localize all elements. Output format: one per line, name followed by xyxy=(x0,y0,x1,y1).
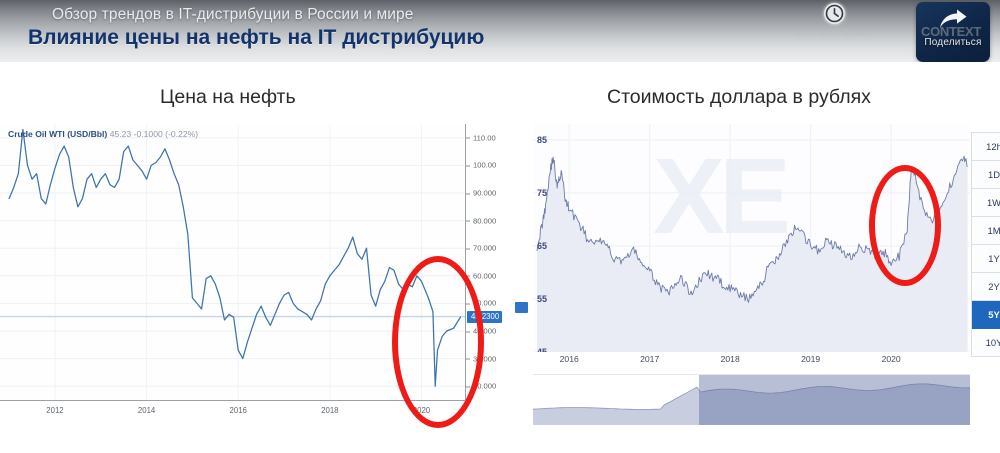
oil-y-tick: 100.00 xyxy=(466,161,496,170)
oil-x-tick: 2018 xyxy=(321,406,338,415)
oil-legend-change: -0.1000 xyxy=(134,129,163,139)
usdrub-chart[interactable]: XE 8575655545 20162017201820192020 12h1D… xyxy=(515,124,1000,430)
oil-x-tick: 2012 xyxy=(46,406,63,415)
oil-line-svg xyxy=(0,124,465,400)
usdrub-y-tick: 75 xyxy=(537,188,547,198)
oil-legend-name: Crude Oil WTI (USD/Bbl) xyxy=(8,129,107,139)
usdrub-x-tick: 2017 xyxy=(640,354,659,364)
chart-navigator[interactable] xyxy=(533,374,970,425)
oil-y-axis: 110.00100.0090.00080.00070.00060.00050.0… xyxy=(465,124,511,400)
navigator-selection-handle[interactable] xyxy=(699,375,970,425)
usdrub-y-tick: 65 xyxy=(537,241,547,251)
oil-y-tick: 40.000 xyxy=(466,327,496,336)
watch-later-label: Смотреть позже xyxy=(797,28,871,39)
usdrub-x-tick: 2020 xyxy=(882,354,901,364)
timeframe-button-1d[interactable]: 1D xyxy=(972,161,1000,189)
usdrub-area-svg xyxy=(533,124,970,352)
share-arrow-icon xyxy=(938,8,968,35)
oil-legend-price: 45.23 xyxy=(110,129,132,139)
oil-x-tick: 2020 xyxy=(413,406,430,415)
slide-canvas: Обзор трендов в IT-дистрибуции в России … xyxy=(0,0,1000,453)
oil-y-tick: 20.000 xyxy=(466,382,496,391)
usdrub-plot-area[interactable]: XE 8575655545 xyxy=(533,124,970,352)
timeframe-selector[interactable]: 12h1D1W1M1Y2Y5Y10Y xyxy=(971,132,1000,357)
oil-x-tick: 2016 xyxy=(230,406,247,415)
usdrub-x-tick: 2018 xyxy=(721,354,740,364)
timeframe-button-5y[interactable]: 5Y xyxy=(972,301,1000,329)
usdrub-y-tick: 85 xyxy=(537,135,547,145)
usdrub-x-tick: 2019 xyxy=(801,354,820,364)
oil-current-price-badge: 45.2300 xyxy=(467,311,502,323)
oil-y-tick: 70.000 xyxy=(466,244,496,253)
usdrub-x-tick: 2016 xyxy=(560,354,579,364)
oil-chart-legend: Crude Oil WTI (USD/Bbl) 45.23 -0.1000 (-… xyxy=(8,129,198,139)
page-title: Влияние цены на нефть на IT дистрибуцию xyxy=(28,26,484,50)
usdrub-x-axis: 20162017201820192020 xyxy=(533,352,970,370)
share-label: Поделиться xyxy=(924,37,981,48)
oil-y-tick: 110.00 xyxy=(466,133,496,142)
timeframe-button-1m[interactable]: 1M xyxy=(972,217,1000,245)
oil-plot-area[interactable]: Crude Oil WTI (USD/Bbl) 45.23 -0.1000 (-… xyxy=(0,124,465,400)
usdrub-current-badge xyxy=(515,302,528,313)
oil-y-tick: 30.000 xyxy=(466,354,496,363)
video-title: Обзор трендов в IT-дистрибуции в России … xyxy=(52,6,413,24)
timeframe-button-12h[interactable]: 12h xyxy=(972,133,1000,161)
oil-price-chart[interactable]: Crude Oil WTI (USD/Bbl) 45.23 -0.1000 (-… xyxy=(0,124,510,422)
usdrub-y-tick: 55 xyxy=(537,294,547,304)
timeframe-button-10y[interactable]: 10Y xyxy=(972,329,1000,357)
watch-later-button[interactable]: Смотреть позже xyxy=(786,3,882,47)
share-button[interactable]: Поделиться xyxy=(916,2,990,62)
oil-legend-change-pct: (-0.22%) xyxy=(165,129,198,139)
clock-icon xyxy=(824,3,845,24)
timeframe-button-1w[interactable]: 1W xyxy=(972,189,1000,217)
timeframe-button-1y[interactable]: 1Y xyxy=(972,245,1000,273)
oil-y-tick: 80.000 xyxy=(466,216,496,225)
oil-x-axis: 20122014201620182020 xyxy=(0,400,465,423)
oil-y-tick: 90.000 xyxy=(466,189,496,198)
left-chart-heading: Цена на нефть xyxy=(160,86,296,109)
oil-y-tick: 60.000 xyxy=(466,271,496,280)
oil-y-tick: 50.000 xyxy=(466,299,496,308)
timeframe-button-2y[interactable]: 2Y xyxy=(972,273,1000,301)
right-chart-heading: Стоимость доллара в рублях xyxy=(607,86,871,109)
oil-x-tick: 2014 xyxy=(138,406,155,415)
